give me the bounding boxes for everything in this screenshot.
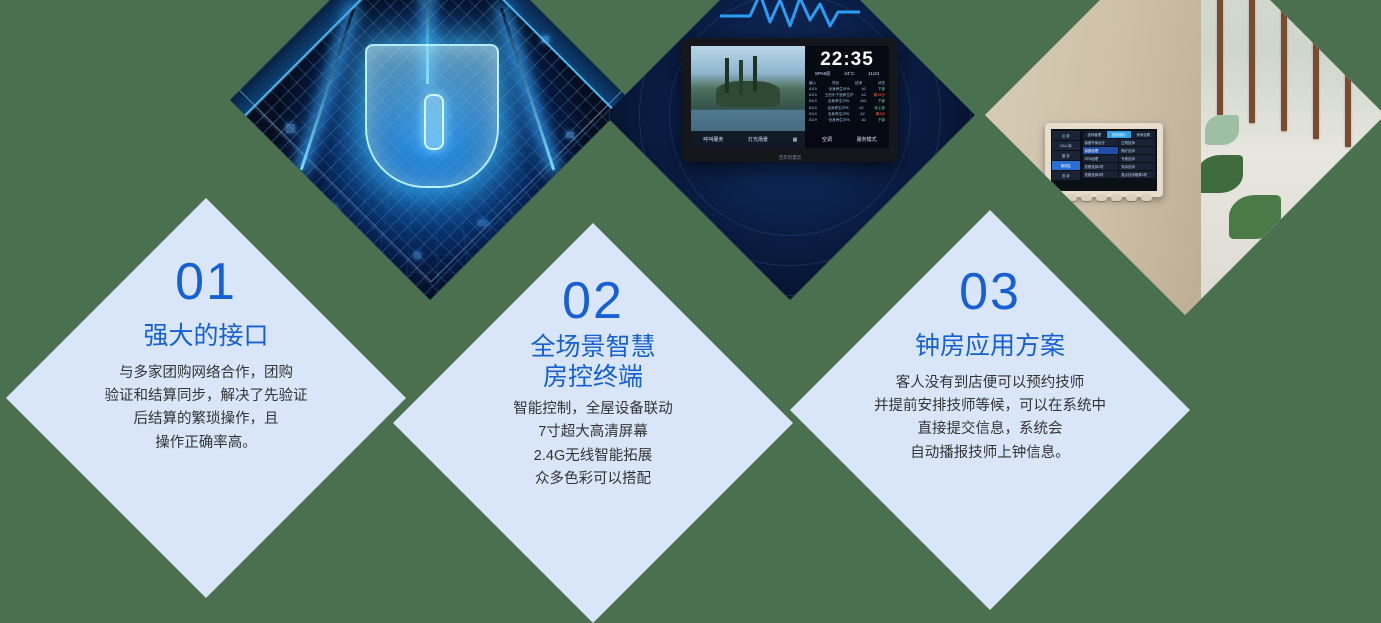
card-description: 客人没有到店便可以预约技师 并提前安排技师等候，可以在系统中 直接提交信息，系统… bbox=[790, 372, 1190, 466]
panel-tabs: 技师管理 技师预约 房间设置 bbox=[1083, 131, 1155, 138]
card-number: 02 bbox=[393, 275, 793, 327]
tab: 房间设置 bbox=[1132, 131, 1155, 138]
infographic-stage: 22:35 SPA6房 24°C 11/24 编入 项目 技师 状态 bbox=[0, 0, 1381, 603]
card-title: 全场景智慧 房控终端 bbox=[393, 333, 793, 392]
list-item: 查看技师3项 bbox=[1083, 171, 1119, 178]
navy-backdrop: 22:35 SPA6房 24°C 11/24 编入 项目 技师 状态 bbox=[605, 0, 975, 300]
list-item: 正规技师 bbox=[1119, 139, 1155, 146]
heartbeat-waveform-icon bbox=[720, 0, 860, 34]
menu-item: 圈 钟 bbox=[1052, 151, 1080, 160]
action-call-service: 呼叫服务 bbox=[703, 136, 723, 143]
menu-item: CALL钟 bbox=[1052, 141, 1080, 150]
menu-item: 点 钟 bbox=[1052, 131, 1080, 140]
panel-screen: 点 钟 CALL钟 圈 钟 换钟区 选 钟 技师管理 技师预约 房间设置 bbox=[1051, 129, 1157, 191]
col-header: 技师 bbox=[855, 81, 862, 86]
action-air-conditioner: 空调 bbox=[822, 136, 832, 143]
date-label: 11/24 bbox=[868, 71, 879, 77]
col-header: 状态 bbox=[878, 81, 885, 86]
col-header: 编入 bbox=[809, 81, 816, 86]
action-service-mode: 服务模式 bbox=[857, 136, 877, 143]
feature-card-03: 03 钟房应用方案 客人没有到店便可以预约技师 并提前安排技师等候，可以在系统中… bbox=[790, 210, 1190, 610]
panel-list-right: 正规技师 微疗技师 专属技师 采耳技师 重点技师推荐2项 bbox=[1119, 139, 1155, 189]
panel-hardware-buttons bbox=[1066, 194, 1152, 201]
card-number: 03 bbox=[790, 266, 1190, 318]
list-item: SPA经理 bbox=[1083, 155, 1119, 162]
tablet-screen: 22:35 SPA6房 24°C 11/24 编入 项目 技师 状态 bbox=[691, 46, 889, 148]
device-brand-label: 百年智慧云 bbox=[682, 155, 898, 161]
card-title: 强大的接口 bbox=[6, 322, 406, 352]
photo-smart-room-control-tablet: 22:35 SPA6房 24°C 11/24 编入 项目 技师 状态 bbox=[605, 0, 975, 300]
list-item: 专属技师 bbox=[1119, 155, 1155, 162]
list-item: 采耳技师 bbox=[1119, 163, 1155, 170]
wall-control-panel-device: 点 钟 CALL钟 圈 钟 换钟区 选 钟 技师管理 技师预约 房间设置 bbox=[1045, 123, 1163, 197]
card-description: 与多家团购网络合作，团购 验证和结算同步，解决了先验证 后结算的繁琐操作，且 操… bbox=[6, 362, 406, 456]
bottom-action-bar: 呼叫服务 灯光场景 ▦ 空调 服务模式 bbox=[691, 131, 889, 148]
status-meta: SPA6房 24°C 11/24 bbox=[805, 69, 889, 80]
tab: 技师管理 bbox=[1083, 131, 1106, 138]
col-header: 项目 bbox=[832, 81, 839, 86]
action-lighting-scene: 灯光场景 bbox=[748, 136, 768, 143]
temp-label: 24°C bbox=[844, 71, 854, 77]
feature-card-01: 01 强大的接口 与多家团购网络合作，团购 验证和结算同步，解决了先验证 后结算… bbox=[6, 198, 406, 598]
panel-side-menu: 点 钟 CALL钟 圈 钟 换钟区 选 钟 bbox=[1051, 129, 1081, 191]
list-item: 微疗技师 bbox=[1119, 147, 1155, 154]
room-interior-view bbox=[1185, 0, 1381, 315]
list-item: 查看技师2项 bbox=[1083, 163, 1119, 170]
feature-card-02: 02 全场景智慧 房控终端 智能控制，全屋设备联动 7寸超大高清屏幕 2.4G无… bbox=[393, 223, 793, 623]
tablet-device: 22:35 SPA6房 24°C 11/24 编入 项目 技师 状态 bbox=[682, 38, 898, 162]
clock-display: 22:35 bbox=[805, 46, 889, 69]
card-description: 智能控制，全屋设备联动 7寸超大高清屏幕 2.4G无线智能拓展 众多色彩可以搭配 bbox=[393, 398, 793, 492]
list-item: 重点技师推荐2项 bbox=[1119, 171, 1155, 178]
room-label: SPA6房 bbox=[815, 71, 831, 77]
menu-item-active: 换钟区 bbox=[1052, 161, 1080, 170]
card-number: 01 bbox=[6, 256, 406, 308]
list-item-selected: 保健经理 bbox=[1083, 147, 1119, 154]
card-title: 钟房应用方案 bbox=[790, 332, 1190, 362]
panel-list-left: 保健专家台疗 保健经理 SPA经理 查看技师2项 查看技师3项 bbox=[1083, 139, 1119, 189]
apps-grid-icon: ▦ bbox=[793, 137, 798, 143]
list-item: 保健专家台疗 bbox=[1083, 139, 1119, 146]
panel-lists: 保健专家台疗 保健经理 SPA经理 查看技师2项 查看技师3项 正规技师 微疗技… bbox=[1083, 139, 1155, 189]
tab-active: 技师预约 bbox=[1107, 131, 1130, 138]
panel-main-area: 技师管理 技师预约 房间设置 保健专家台疗 保健经理 SPA经理 查看技师2项 … bbox=[1081, 129, 1157, 191]
table-row: 8119 全身养生SPA A2 下钟 bbox=[808, 117, 886, 123]
shield-lock-icon bbox=[365, 44, 499, 188]
menu-item: 选 钟 bbox=[1052, 171, 1080, 180]
